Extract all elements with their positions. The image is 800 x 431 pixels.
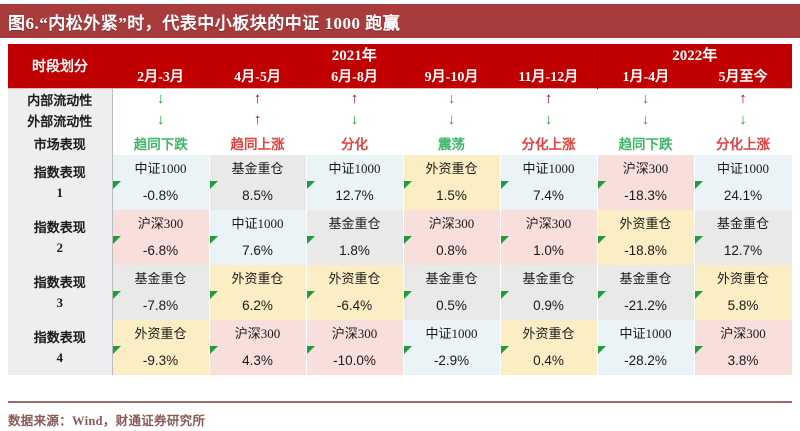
index-cell: 基金重仓1.8% [306,210,403,265]
arrow-up-icon: ↑ [694,89,792,111]
row-index-performance-2: 指数表现2沪深300-6.8%中证10007.6%基金重仓1.8%沪深3000.… [8,210,792,265]
market-performance-cell: 趋同下跌 [597,131,694,155]
figure-title-bar: 图6.“内松外紧”时，代表中小板块的中证 1000 跑赢 [0,4,800,38]
index-cell: 沪深300-10.0% [306,320,403,375]
corner-marker-icon [404,346,412,354]
arrow-down-icon: ↓ [597,110,694,131]
index-return-value: 24.1% [695,182,792,210]
corner-marker-icon [598,181,606,189]
index-return-value: -18.8% [598,237,694,265]
corner-marker-icon [501,236,509,244]
index-name: 基金重仓 [695,210,792,237]
index-cell: 中证1000-28.2% [597,320,694,375]
index-cell: 基金重仓12.7% [694,210,792,265]
arrow-down-icon: ↓ [112,89,209,111]
index-name: 基金重仓 [307,210,403,237]
index-cell: 中证10007.4% [500,155,597,210]
data-source-note: 数据来源：Wind，财通证券研究所 [8,410,205,429]
row-index-performance-3: 指数表现3基金重仓-7.8%外资重仓6.2%外资重仓-6.4%基金重仓0.5%基… [8,265,792,320]
index-cell: 基金重仓-7.8% [112,265,209,320]
index-name: 中证1000 [695,155,792,182]
index-name: 外资重仓 [404,155,500,182]
index-return-value: -6.4% [307,292,403,320]
corner-marker-icon [501,181,509,189]
index-cell: 外资重仓-6.4% [306,265,403,320]
index-return-value: -9.3% [113,347,209,375]
corner-marker-icon [210,346,218,354]
corner-marker-icon [695,236,703,244]
index-cell: 基金重仓0.9% [500,265,597,320]
corner-marker-icon [113,291,121,299]
arrow-down-icon: ↓ [500,110,597,131]
market-performance-cell: 分化上涨 [500,131,597,155]
index-return-value: 12.7% [307,182,403,210]
index-name: 沪深300 [210,320,306,347]
year-group-header: 2022年 [597,44,792,68]
corner-marker-icon [210,291,218,299]
index-return-value: -10.0% [307,347,403,375]
index-return-value: 0.4% [501,347,597,375]
period-index-table: 时段划分2021年2022年2月-3月4月-5月6月-8月9月-10月11月-1… [8,44,793,375]
index-return-value: -18.3% [598,182,694,210]
index-name: 沪深300 [695,320,792,347]
index-name: 中证1000 [404,320,500,347]
row-label-index-performance-1: 指数表现1 [8,155,112,210]
footer-divider [8,401,792,403]
index-return-value: -2.9% [404,347,500,375]
market-performance-cell: 分化上涨 [694,131,792,155]
index-return-value: -7.8% [113,292,209,320]
index-name: 中证1000 [113,155,209,182]
market-performance-cell: 分化 [306,131,403,155]
period-header-cell: 2月-3月 [112,68,209,89]
figure-table-container: 时段划分2021年2022年2月-3月4月-5月6月-8月9月-10月11月-1… [8,44,792,375]
index-cell: 中证1000-2.9% [403,320,500,375]
row-label-internal-liquidity: 内部流动性 [8,89,112,111]
index-name: 基金重仓 [404,265,500,292]
corner-marker-icon [695,291,703,299]
corner-marker-icon [307,346,315,354]
row-internal-liquidity: 内部流动性↓↑↑↓↑↓↑ [8,89,792,111]
index-return-value: 1.8% [307,237,403,265]
table-header-period-row: 2月-3月4月-5月6月-8月9月-10月11月-12月1月-4月5月至今 [8,68,792,89]
corner-marker-icon [404,236,412,244]
arrow-down-icon: ↓ [597,89,694,111]
market-performance-cell: 趋同下跌 [112,131,209,155]
index-cell: 基金重仓-21.2% [597,265,694,320]
index-name: 外资重仓 [113,320,209,347]
index-cell: 沪深3000.8% [403,210,500,265]
index-return-value: 0.9% [501,292,597,320]
index-name: 沪深300 [501,210,597,237]
index-cell: 外资重仓-9.3% [112,320,209,375]
index-name: 外资重仓 [210,265,306,292]
index-name: 沪深300 [598,155,694,182]
corner-marker-icon [307,236,315,244]
index-return-value: 7.4% [501,182,597,210]
index-return-value: 3.8% [695,347,792,375]
index-return-value: -28.2% [598,347,694,375]
index-name: 基金重仓 [598,265,694,292]
arrow-down-icon: ↓ [403,89,500,111]
index-cell: 外资重仓6.2% [209,265,306,320]
corner-marker-icon [695,346,703,354]
corner-marker-icon [307,181,315,189]
index-return-value: 8.5% [210,182,306,210]
row-index-performance-4: 指数表现4外资重仓-9.3%沪深3004.3%沪深300-10.0%中证1000… [8,320,792,375]
index-return-value: -0.8% [113,182,209,210]
index-return-value: 12.7% [695,237,792,265]
year-group-header: 2021年 [112,44,597,68]
index-cell: 沪深300-18.3% [597,155,694,210]
stub-header-cell: 时段划分 [8,44,112,89]
index-name: 外资重仓 [307,265,403,292]
arrow-up-icon: ↑ [209,89,306,111]
corner-marker-icon [501,291,509,299]
index-name: 沪深300 [404,210,500,237]
arrow-down-icon: ↓ [694,110,792,131]
index-return-value: 0.8% [404,237,500,265]
index-name: 外资重仓 [695,265,792,292]
corner-marker-icon [113,236,121,244]
figure-title-text: 图6.“内松外紧”时，代表中小板块的中证 1000 跑赢 [8,9,400,34]
arrow-down-icon: ↓ [403,110,500,131]
row-label-index-performance-2: 指数表现2 [8,210,112,265]
index-return-value: -21.2% [598,292,694,320]
period-header-cell: 9月-10月 [403,68,500,89]
index-name: 中证1000 [501,155,597,182]
corner-marker-icon [598,236,606,244]
index-return-value: 6.2% [210,292,306,320]
arrow-up-icon: ↑ [500,89,597,111]
market-performance-cell: 震荡 [403,131,500,155]
index-cell: 中证1000-0.8% [112,155,209,210]
corner-marker-icon [113,346,121,354]
period-header-cell: 6月-8月 [306,68,403,89]
index-cell: 外资重仓5.8% [694,265,792,320]
table-header-year-row: 时段划分2021年2022年 [8,44,792,68]
index-name: 基金重仓 [113,265,209,292]
row-label-index-performance-3: 指数表现3 [8,265,112,320]
corner-marker-icon [307,291,315,299]
arrow-up-icon: ↑ [306,89,403,111]
index-return-value: 7.6% [210,237,306,265]
corner-marker-icon [113,181,121,189]
corner-marker-icon [404,291,412,299]
arrow-up-icon: ↑ [209,110,306,131]
index-cell: 外资重仓-18.8% [597,210,694,265]
corner-marker-icon [695,181,703,189]
index-cell: 中证100024.1% [694,155,792,210]
corner-marker-icon [501,346,509,354]
index-return-value: 0.5% [404,292,500,320]
market-performance-cell: 趋同上涨 [209,131,306,155]
period-header-cell: 4月-5月 [209,68,306,89]
corner-marker-icon [210,181,218,189]
arrow-down-icon: ↓ [112,110,209,131]
index-name: 中证1000 [307,155,403,182]
index-cell: 沪深3004.3% [209,320,306,375]
index-name: 外资重仓 [598,210,694,237]
arrow-down-icon: ↓ [306,110,403,131]
index-cell: 沪深3003.8% [694,320,792,375]
index-name: 基金重仓 [501,265,597,292]
row-index-performance-1: 指数表现1中证1000-0.8%基金重仓8.5%中证100012.7%外资重仓1… [8,155,792,210]
row-external-liquidity: 外部流动性↓↑↓↓↓↓↓ [8,110,792,131]
corner-marker-icon [598,291,606,299]
row-market-performance: 市场表现趋同下跌趋同上涨分化震荡分化上涨趋同下跌分化上涨 [8,131,792,155]
index-return-value: 4.3% [210,347,306,375]
index-cell: 外资重仓0.4% [500,320,597,375]
index-name: 沪深300 [113,210,209,237]
index-return-value: 1.5% [404,182,500,210]
index-return-value: 1.0% [501,237,597,265]
index-name: 中证1000 [210,210,306,237]
index-name: 沪深300 [307,320,403,347]
period-header-cell: 1月-4月 [597,68,694,89]
corner-marker-icon [598,346,606,354]
index-cell: 基金重仓8.5% [209,155,306,210]
index-cell: 中证10007.6% [209,210,306,265]
index-cell: 沪深3001.0% [500,210,597,265]
index-return-value: 5.8% [695,292,792,320]
index-return-value: -6.8% [113,237,209,265]
corner-marker-icon [210,236,218,244]
index-cell: 中证100012.7% [306,155,403,210]
index-name: 基金重仓 [210,155,306,182]
corner-marker-icon [404,181,412,189]
period-header-cell: 11月-12月 [500,68,597,89]
row-label-market-performance: 市场表现 [8,131,112,155]
row-label-index-performance-4: 指数表现4 [8,320,112,375]
index-name: 中证1000 [598,320,694,347]
index-cell: 基金重仓0.5% [403,265,500,320]
index-cell: 沪深300-6.8% [112,210,209,265]
index-cell: 外资重仓1.5% [403,155,500,210]
index-name: 外资重仓 [501,320,597,347]
period-header-cell: 5月至今 [694,68,792,89]
row-label-external-liquidity: 外部流动性 [8,110,112,131]
